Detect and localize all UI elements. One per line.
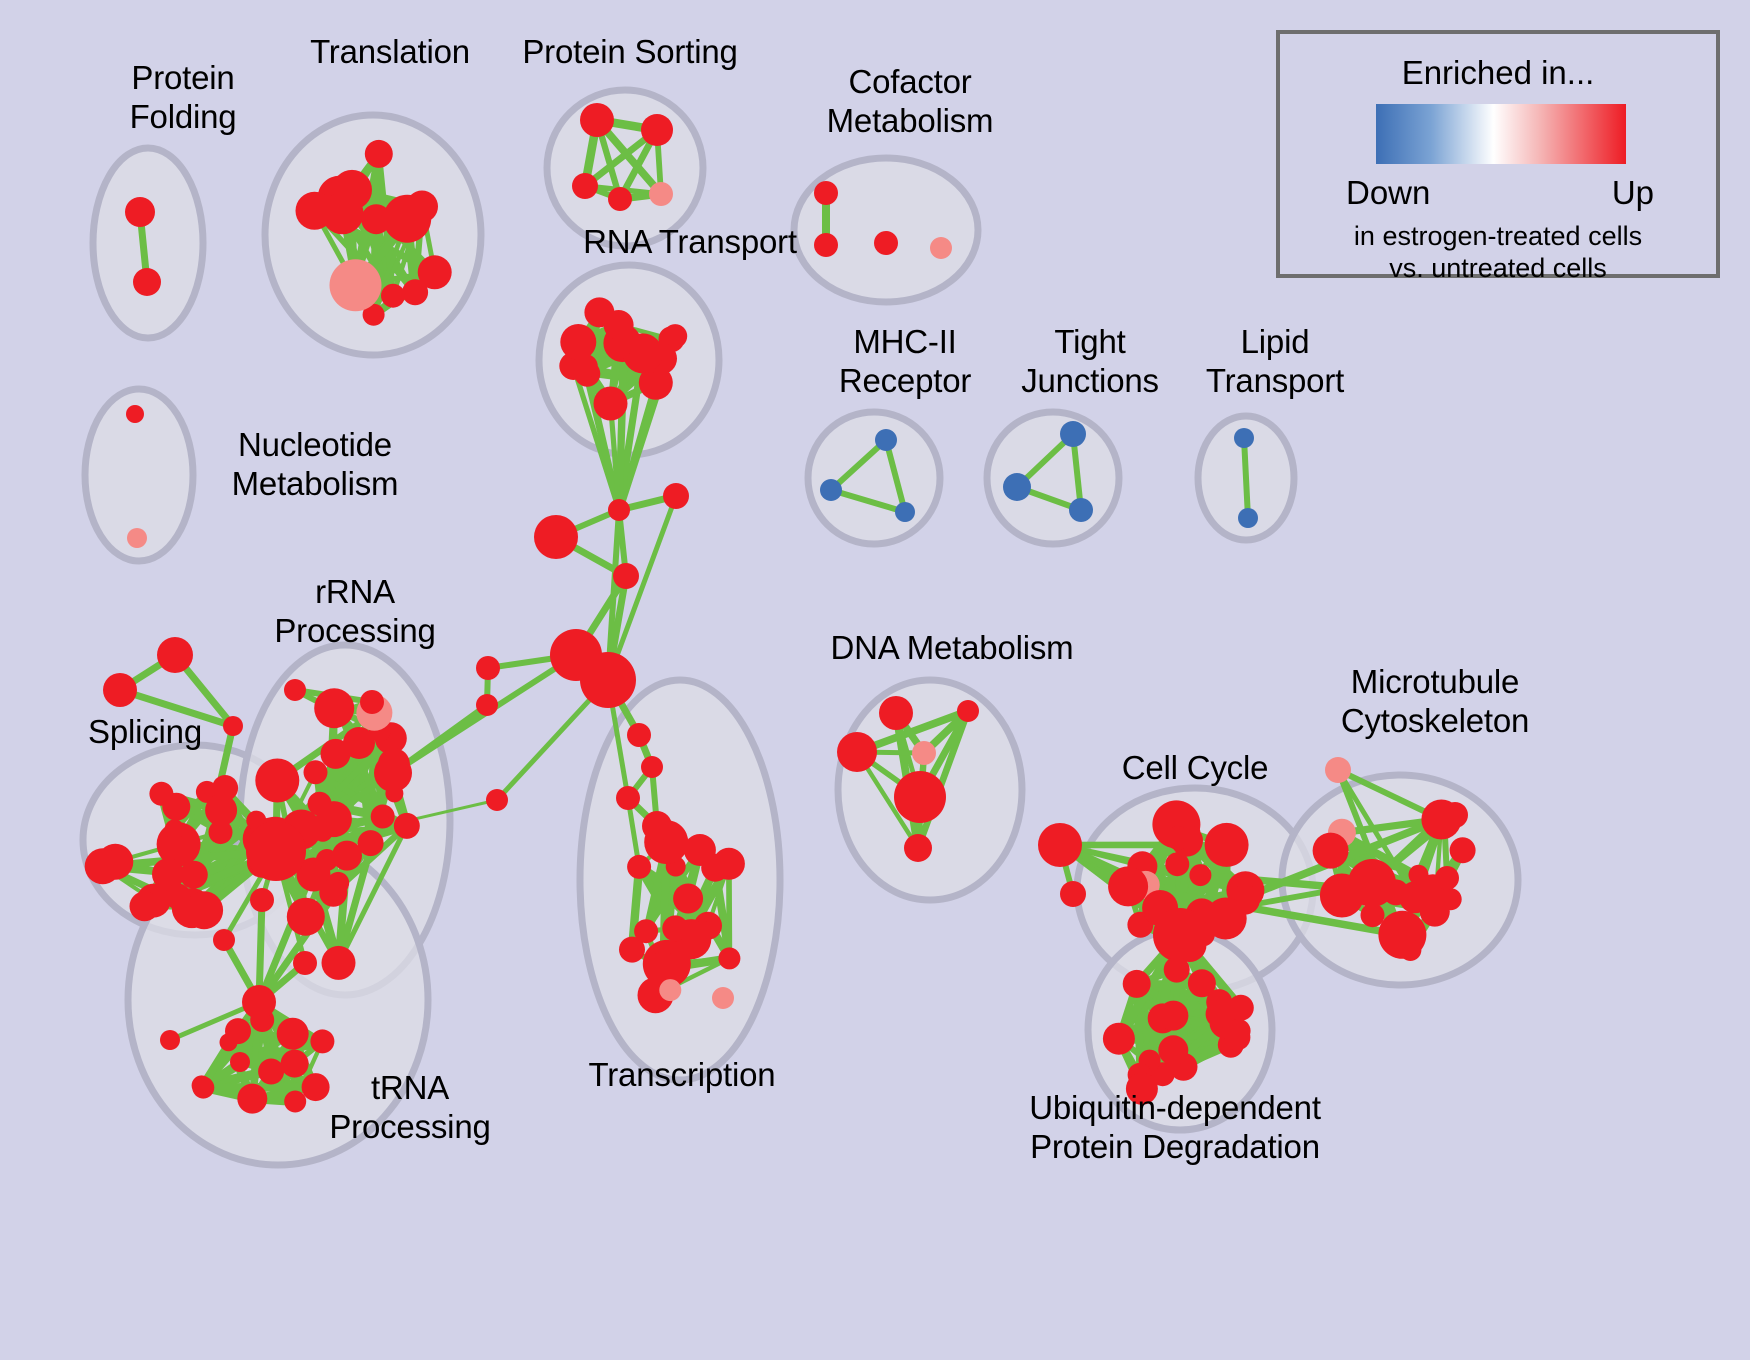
- network-node: [212, 775, 238, 801]
- network-node: [594, 387, 628, 421]
- network-node: [319, 879, 347, 907]
- network-edge: [1244, 438, 1248, 518]
- network-node: [130, 891, 160, 921]
- network-node: [213, 929, 235, 951]
- network-node: [322, 946, 356, 980]
- network-node: [1450, 837, 1476, 863]
- network-node: [641, 756, 663, 778]
- network-node: [1348, 859, 1396, 907]
- network-node: [1205, 823, 1249, 867]
- network-node: [125, 197, 155, 227]
- network-node: [287, 898, 325, 936]
- legend-title: Enriched in...: [1280, 54, 1716, 92]
- legend-box: Enriched in... Down Up in estrogen-treat…: [1276, 30, 1720, 278]
- network-node: [343, 727, 375, 759]
- network-node: [875, 429, 897, 451]
- network-node: [574, 354, 598, 378]
- network-node: [223, 716, 243, 736]
- network-node: [560, 324, 596, 360]
- network-node: [304, 760, 328, 784]
- network-node: [1234, 428, 1254, 448]
- enrichment-map-figure: Protein FoldingTranslationProtein Sortin…: [0, 0, 1750, 1360]
- network-node: [1189, 864, 1211, 886]
- network-node: [402, 279, 428, 305]
- network-node: [313, 822, 333, 842]
- network-node: [534, 515, 578, 559]
- network-node: [930, 237, 952, 259]
- legend-gradient-bar: [1376, 104, 1626, 164]
- network-node: [284, 1091, 306, 1113]
- network-node: [360, 690, 384, 714]
- network-node: [580, 652, 636, 708]
- cluster-ellipse-cofactor-metabolism: [794, 158, 978, 302]
- legend-low-label: Down: [1346, 174, 1430, 212]
- network-node: [316, 849, 338, 871]
- network-node: [255, 759, 299, 803]
- network-node: [160, 1030, 180, 1050]
- network-node: [127, 528, 147, 548]
- network-node: [394, 813, 420, 839]
- network-node: [712, 987, 734, 1009]
- network-node: [820, 479, 842, 501]
- network-node: [814, 181, 838, 205]
- network-node: [814, 233, 838, 257]
- network-node: [1224, 1024, 1250, 1050]
- network-node: [476, 694, 498, 716]
- network-node: [1228, 995, 1254, 1021]
- network-node: [1060, 421, 1086, 447]
- network-node: [365, 140, 393, 168]
- network-node: [879, 696, 913, 730]
- network-node: [874, 231, 898, 255]
- network-node: [957, 700, 979, 722]
- legend-caption: in estrogen-treated cells vs. untreated …: [1280, 220, 1716, 284]
- cluster-ellipse-protein-folding: [93, 148, 203, 338]
- network-node: [157, 637, 193, 673]
- network-node: [1313, 833, 1349, 869]
- network-node: [663, 483, 689, 509]
- cluster-ellipse-mhc-ii-receptor: [808, 412, 940, 544]
- network-node: [330, 259, 382, 311]
- network-node: [192, 1077, 214, 1099]
- network-node: [1123, 970, 1151, 998]
- network-node: [580, 103, 614, 137]
- network-node: [322, 192, 364, 234]
- network-node: [225, 1018, 251, 1044]
- network-node: [627, 855, 651, 879]
- network-node: [608, 187, 632, 211]
- network-node: [572, 173, 598, 199]
- network-node: [1158, 1001, 1188, 1031]
- network-node: [1166, 826, 1190, 850]
- network-node: [1126, 1073, 1158, 1105]
- network-node: [894, 771, 946, 823]
- network-node: [246, 821, 306, 881]
- network-node: [1003, 473, 1031, 501]
- network-node: [659, 979, 681, 1001]
- network-node: [406, 191, 438, 223]
- cluster-ellipse-protein-sorting: [547, 90, 703, 246]
- network-node: [608, 499, 630, 521]
- network-node: [277, 1018, 309, 1050]
- network-node: [250, 888, 274, 912]
- network-node: [230, 1052, 250, 1072]
- network-node: [1060, 881, 1086, 907]
- network-node: [85, 848, 121, 884]
- network-node: [1038, 823, 1082, 867]
- network-node: [281, 1050, 309, 1078]
- network-node: [634, 919, 658, 943]
- network-node: [627, 723, 651, 747]
- network-node: [1153, 908, 1207, 962]
- network-node: [895, 502, 915, 522]
- network-node: [284, 679, 306, 701]
- network-node: [649, 182, 673, 206]
- network-node: [302, 1073, 330, 1101]
- network-node: [149, 782, 173, 806]
- network-node: [1108, 866, 1148, 906]
- network-node: [486, 789, 508, 811]
- network-node: [837, 732, 877, 772]
- network-node: [904, 834, 932, 862]
- network-node: [476, 656, 500, 680]
- network-node: [1442, 802, 1468, 828]
- network-node: [381, 284, 405, 308]
- network-node: [165, 819, 185, 839]
- network-node: [713, 848, 745, 880]
- network-node: [1103, 1023, 1135, 1055]
- network-node: [613, 563, 639, 589]
- network-node: [237, 1084, 267, 1114]
- network-node: [642, 811, 672, 841]
- network-node: [1325, 757, 1351, 783]
- network-node: [180, 861, 208, 889]
- network-node: [1164, 957, 1190, 983]
- network-node: [126, 405, 144, 423]
- network-node: [133, 268, 161, 296]
- network-node: [673, 884, 703, 914]
- network-node: [374, 754, 412, 792]
- network-node: [692, 921, 712, 941]
- network-node: [604, 310, 634, 340]
- network-node: [1399, 939, 1421, 961]
- network-node: [310, 1029, 334, 1053]
- network-node: [330, 703, 350, 723]
- network-node: [1188, 969, 1216, 997]
- network-node: [616, 786, 640, 810]
- network-node: [242, 985, 276, 1019]
- legend-high-label: Up: [1612, 174, 1654, 212]
- network-node: [912, 741, 936, 765]
- network-node: [662, 915, 688, 941]
- network-node: [293, 951, 317, 975]
- network-node: [641, 114, 673, 146]
- network-node: [1158, 1035, 1188, 1065]
- network-node: [1069, 498, 1093, 522]
- network-node: [371, 805, 395, 829]
- network-node: [258, 1059, 284, 1085]
- network-node: [103, 673, 137, 707]
- network-node: [718, 947, 740, 969]
- network-node: [1238, 508, 1258, 528]
- network-node: [1435, 866, 1459, 890]
- network-node: [185, 891, 223, 929]
